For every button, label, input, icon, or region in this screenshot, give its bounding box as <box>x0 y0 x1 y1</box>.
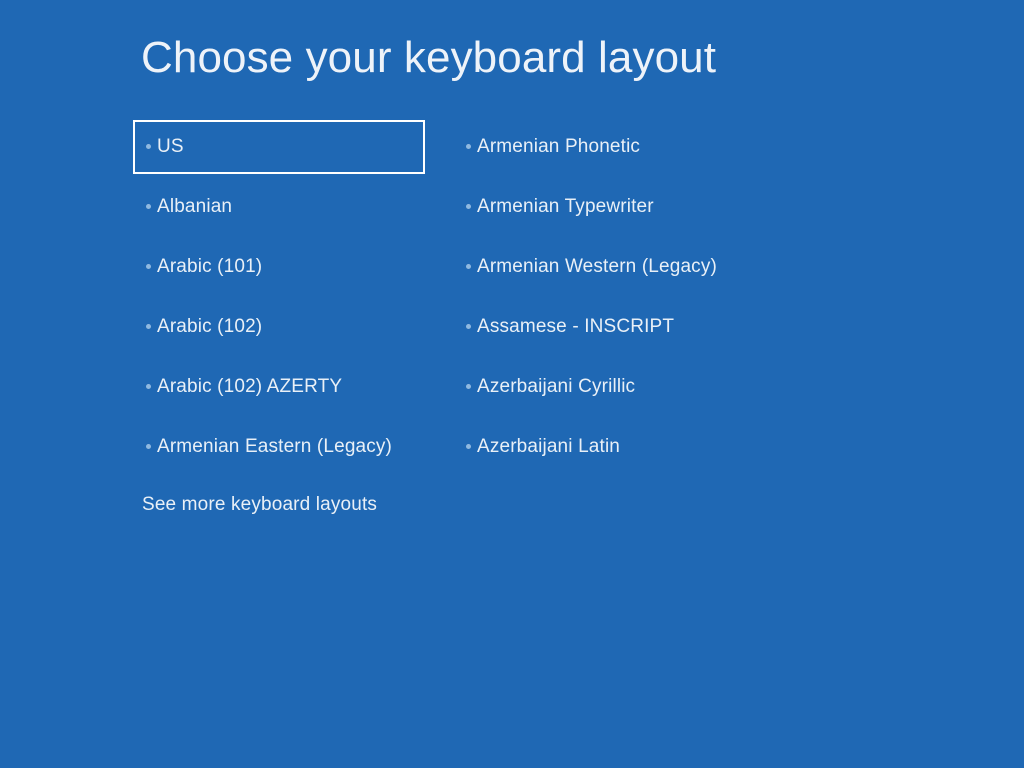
keyboard-layout-list: USAlbanianArabic (101)Arabic (102)Arabic… <box>0 0 1024 768</box>
bullet-icon <box>146 444 151 449</box>
bullet-icon <box>466 384 471 389</box>
keyboard-layout-item[interactable]: Albanian <box>133 180 425 234</box>
keyboard-layout-label: Arabic (101) <box>157 256 262 278</box>
keyboard-layout-item[interactable]: Arabic (101) <box>133 240 425 294</box>
keyboard-layout-item[interactable]: Armenian Eastern (Legacy) <box>133 420 425 474</box>
bullet-icon <box>146 384 151 389</box>
keyboard-layout-label: Azerbaijani Latin <box>477 436 620 458</box>
keyboard-layout-label: Armenian Eastern (Legacy) <box>157 436 392 458</box>
bullet-icon <box>146 204 151 209</box>
keyboard-layout-label: Assamese - INSCRIPT <box>477 316 674 338</box>
keyboard-layout-label: Arabic (102) AZERTY <box>157 376 342 398</box>
bullet-icon <box>466 444 471 449</box>
keyboard-layout-label: Albanian <box>157 196 232 218</box>
keyboard-layout-item[interactable]: Armenian Phonetic <box>453 120 783 174</box>
layout-column-left: USAlbanianArabic (101)Arabic (102)Arabic… <box>133 120 425 480</box>
layout-column-right: Armenian PhoneticArmenian TypewriterArme… <box>453 120 783 480</box>
keyboard-layout-item[interactable]: Arabic (102) AZERTY <box>133 360 425 414</box>
bullet-icon <box>466 324 471 329</box>
bullet-icon <box>146 264 151 269</box>
keyboard-layout-item[interactable]: Azerbaijani Latin <box>453 420 783 474</box>
keyboard-layout-item[interactable]: Arabic (102) <box>133 300 425 354</box>
keyboard-layout-label: Armenian Western (Legacy) <box>477 256 717 278</box>
keyboard-layout-item[interactable]: Assamese - INSCRIPT <box>453 300 783 354</box>
keyboard-layout-label: Arabic (102) <box>157 316 262 338</box>
keyboard-layout-item[interactable]: Azerbaijani Cyrillic <box>453 360 783 414</box>
bullet-icon <box>146 144 151 149</box>
keyboard-layout-item[interactable]: Armenian Western (Legacy) <box>453 240 783 294</box>
keyboard-layout-label: Azerbaijani Cyrillic <box>477 376 635 398</box>
see-more-keyboard-layouts-link[interactable]: See more keyboard layouts <box>142 492 377 518</box>
bullet-icon <box>466 204 471 209</box>
keyboard-layout-item[interactable]: US <box>133 120 425 174</box>
keyboard-layout-label: Armenian Phonetic <box>477 136 640 158</box>
bullet-icon <box>146 324 151 329</box>
bullet-icon <box>466 264 471 269</box>
keyboard-layout-label: US <box>157 136 184 158</box>
bullet-icon <box>466 144 471 149</box>
keyboard-layout-screen: Choose your keyboard layout USAlbanianAr… <box>0 0 1024 768</box>
keyboard-layout-label: Armenian Typewriter <box>477 196 654 218</box>
keyboard-layout-item[interactable]: Armenian Typewriter <box>453 180 783 234</box>
